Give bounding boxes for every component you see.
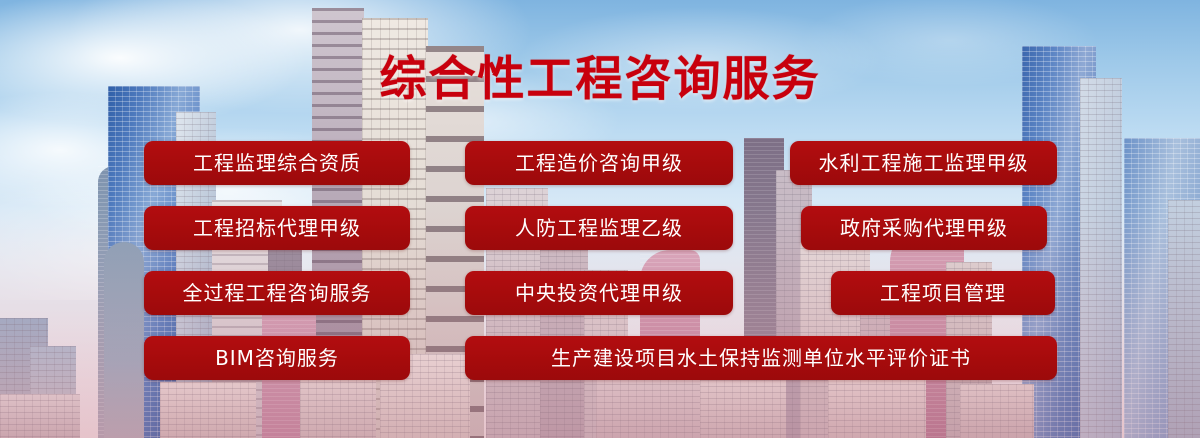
qualification-pill-government-procurement-agency-grade-a[interactable]: 政府采购代理甲级 [801,206,1047,250]
qualification-pill-central-investment-agency-grade-a[interactable]: 中央投资代理甲级 [465,271,733,315]
qualification-pill-cost-consulting-grade-a[interactable]: 工程造价咨询甲级 [465,141,733,185]
qualification-banner: 综合性工程咨询服务 工程监理综合资质 工程造价咨询甲级 水利工程施工监理甲级 工… [0,0,1200,438]
qualification-pill-engineering-supervision-comprehensive[interactable]: 工程监理综合资质 [144,141,410,185]
qualification-pill-water-conservancy-supervision-grade-a[interactable]: 水利工程施工监理甲级 [790,141,1057,185]
qualification-grid: 工程监理综合资质 工程造价咨询甲级 水利工程施工监理甲级 工程招标代理甲级 人防… [0,0,1200,438]
qualification-pill-bim-consulting[interactable]: BIM咨询服务 [144,336,410,380]
qualification-pill-soil-water-conservation-certificate[interactable]: 生产建设项目水土保持监测单位水平评价证书 [465,336,1057,380]
qualification-pill-civil-defense-supervision-grade-b[interactable]: 人防工程监理乙级 [465,206,733,250]
qualification-pill-project-management[interactable]: 工程项目管理 [831,271,1055,315]
qualification-pill-bidding-agency-grade-a[interactable]: 工程招标代理甲级 [144,206,410,250]
qualification-pill-whole-process-consulting[interactable]: 全过程工程咨询服务 [144,271,410,315]
